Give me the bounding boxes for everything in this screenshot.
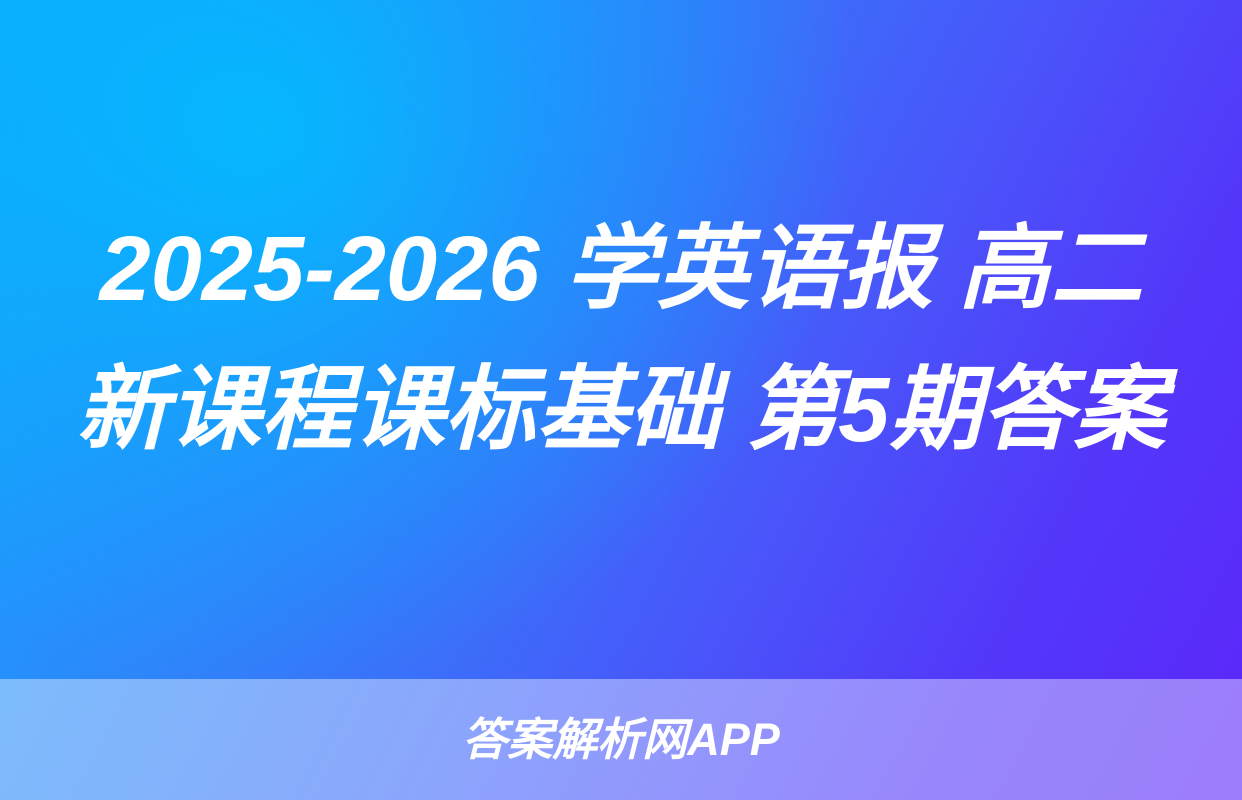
footer-brand-bar: 答案解析网APP xyxy=(0,679,1242,800)
brand-watermark-label: 答案解析网APP xyxy=(462,715,780,765)
poster-canvas: 2025-2026 学英语报 高二 新课程课标基础 第5期答案 答案解析网APP xyxy=(0,0,1242,800)
title-block: 2025-2026 学英语报 高二 新课程课标基础 第5期答案 xyxy=(0,0,1242,679)
page-title: 2025-2026 学英语报 高二 新课程课标基础 第5期答案 xyxy=(62,199,1180,481)
